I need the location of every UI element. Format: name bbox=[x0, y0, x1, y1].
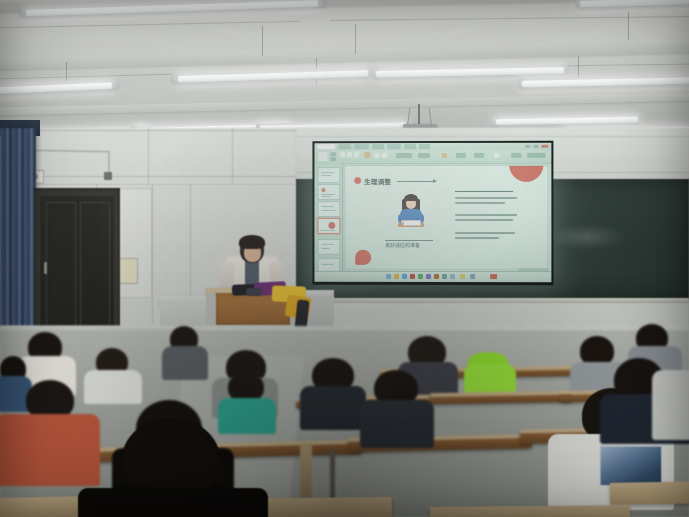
tshirt-graphic bbox=[600, 446, 662, 486]
tab-transitions[interactable] bbox=[372, 144, 384, 149]
tab-insert[interactable] bbox=[338, 144, 351, 149]
body-text-line bbox=[455, 237, 499, 239]
title-arrow-icon bbox=[433, 179, 437, 183]
body-text-line bbox=[455, 214, 517, 216]
slide-caption: 良好适应的准备 bbox=[385, 242, 420, 249]
projection-screen: 生理调整 bbox=[312, 141, 553, 286]
shapes-gallery[interactable] bbox=[396, 153, 412, 158]
window-curtain bbox=[0, 128, 36, 343]
body-text-line bbox=[455, 197, 517, 199]
maximize-icon[interactable] bbox=[533, 145, 538, 148]
chalk-ledge bbox=[296, 298, 689, 303]
tab-animations[interactable] bbox=[387, 144, 401, 149]
thumbnail-pane[interactable] bbox=[314, 163, 343, 272]
body-rule bbox=[455, 191, 513, 192]
tab-home[interactable] bbox=[317, 144, 335, 149]
body-text-line bbox=[455, 219, 513, 221]
illustration-book bbox=[403, 220, 421, 226]
taskbar-icon-presentation[interactable] bbox=[434, 274, 439, 279]
ceiling-light bbox=[496, 117, 638, 125]
jacket-fold bbox=[246, 288, 262, 296]
taskbar-icon-media[interactable] bbox=[410, 274, 415, 279]
decoration-semicircle-bottom-left bbox=[355, 250, 371, 265]
bullets-icon[interactable] bbox=[382, 153, 387, 158]
arrange-menu[interactable] bbox=[418, 153, 430, 158]
tab-view[interactable] bbox=[419, 144, 430, 149]
paste-icon[interactable] bbox=[318, 152, 327, 161]
find-button[interactable] bbox=[456, 153, 466, 158]
text-color-icon[interactable] bbox=[364, 152, 370, 158]
taskbar-icon-folder[interactable] bbox=[394, 274, 399, 279]
slide-thumbnail-4[interactable] bbox=[317, 218, 340, 234]
presenter-hair bbox=[239, 235, 265, 249]
caption-rule bbox=[385, 240, 433, 241]
taskbar-icon-misc[interactable] bbox=[460, 274, 465, 279]
taskbar-icon-browser[interactable] bbox=[402, 274, 407, 279]
slide-illustration bbox=[398, 194, 424, 236]
font-size-box[interactable] bbox=[330, 157, 336, 161]
decoration-semicircle-top-right bbox=[509, 165, 543, 182]
tab-slideshow[interactable] bbox=[404, 144, 416, 149]
slide-thumbnail-3[interactable] bbox=[317, 201, 340, 217]
body-text-line bbox=[455, 232, 515, 234]
italic-icon[interactable] bbox=[347, 152, 352, 157]
bold-icon[interactable] bbox=[340, 152, 345, 157]
desk-top bbox=[430, 505, 630, 517]
taskbar-icon-notification[interactable] bbox=[490, 274, 497, 279]
door-handle[interactable] bbox=[44, 262, 47, 274]
close-icon[interactable] bbox=[541, 145, 548, 148]
desk-top bbox=[610, 481, 689, 505]
slide-title: 生理调整 bbox=[364, 176, 391, 186]
share-button[interactable] bbox=[511, 153, 521, 158]
conduit-box bbox=[104, 172, 112, 180]
title-bullet-icon bbox=[354, 177, 361, 184]
replace-button[interactable] bbox=[474, 153, 484, 158]
projector-mount bbox=[418, 104, 420, 126]
taskbar-icon-explorer[interactable] bbox=[386, 274, 391, 279]
taskbar-icon-chat[interactable] bbox=[426, 274, 431, 279]
desk-side bbox=[300, 443, 312, 505]
tab-design[interactable] bbox=[354, 144, 369, 149]
account-chip[interactable] bbox=[527, 153, 545, 158]
conduit bbox=[108, 152, 110, 174]
font-name-box[interactable] bbox=[330, 152, 336, 156]
minimize-icon[interactable] bbox=[525, 145, 530, 148]
slide-thumbnail-1[interactable] bbox=[317, 167, 340, 183]
classroom-door[interactable] bbox=[40, 196, 114, 334]
ceiling-light bbox=[580, 0, 689, 8]
presentation-window[interactable]: 生理调整 bbox=[314, 143, 551, 282]
ribbon-toolbar[interactable] bbox=[314, 150, 551, 164]
taskbar-icon-network[interactable] bbox=[470, 274, 475, 279]
taskbar-icon-notes[interactable] bbox=[418, 274, 423, 279]
align-icon[interactable] bbox=[374, 153, 379, 158]
title-underline bbox=[397, 181, 435, 182]
taskbar-icon-settings[interactable] bbox=[442, 274, 447, 279]
underline-icon[interactable] bbox=[354, 152, 359, 157]
slide-thumbnail-2[interactable] bbox=[317, 184, 340, 200]
slide-canvas[interactable]: 生理调整 bbox=[344, 165, 548, 270]
classroom-scene: 生理调整 bbox=[0, 0, 689, 517]
ribbon-tabs[interactable] bbox=[317, 144, 430, 149]
body-text-line bbox=[455, 202, 505, 204]
select-icon[interactable] bbox=[494, 153, 499, 158]
taskbar-icon-mail[interactable] bbox=[450, 274, 455, 279]
quick-style-icon[interactable] bbox=[442, 153, 447, 158]
ceiling bbox=[0, 0, 689, 140]
slide-thumbnail-5[interactable] bbox=[317, 239, 340, 255]
taskbar[interactable] bbox=[314, 271, 551, 282]
